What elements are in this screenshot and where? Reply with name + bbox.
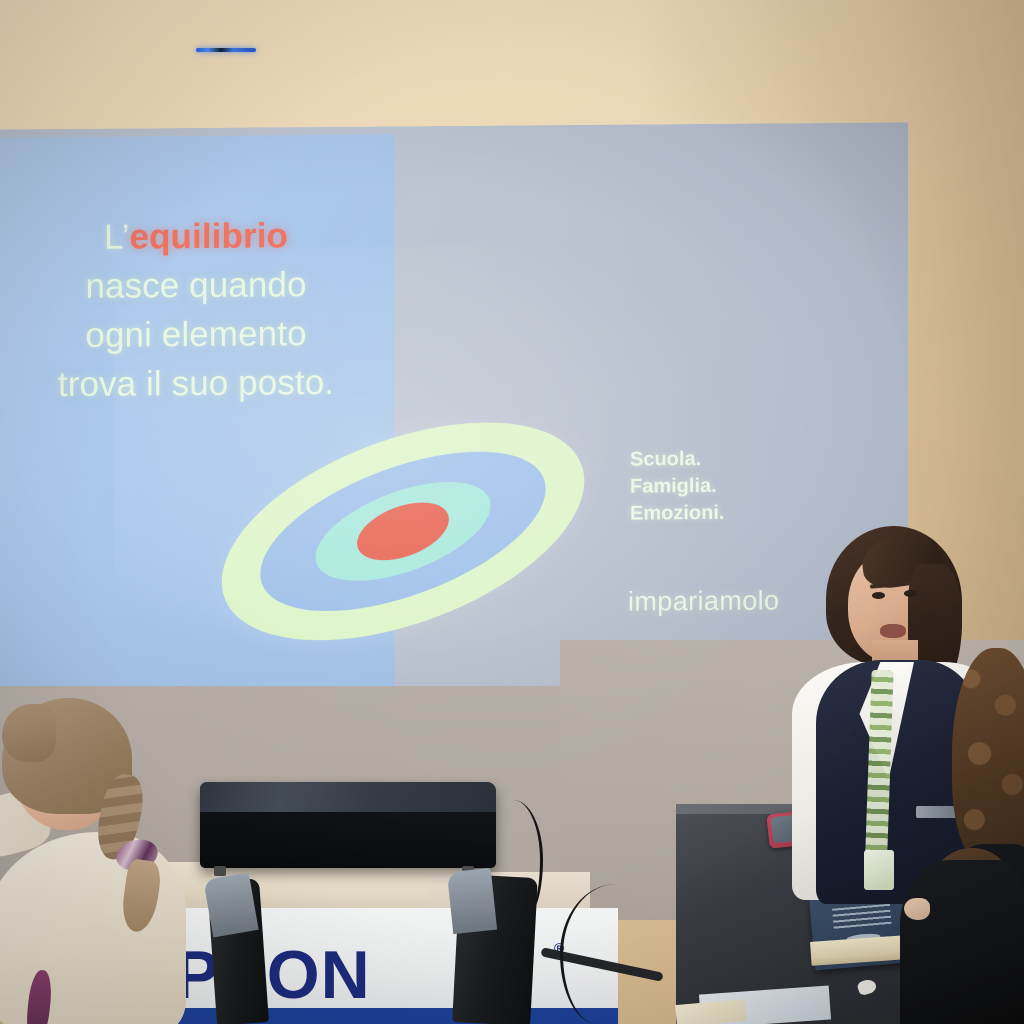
tagline-famiglia: Famiglia.: [630, 473, 724, 501]
tagline-scuola: Scuola.: [630, 446, 724, 474]
attendee-bottom-right: [900, 860, 1024, 1024]
headline-line-1: L’equilibrio: [0, 210, 406, 262]
child-torso: [0, 832, 186, 1024]
attendee-hand: [904, 898, 930, 920]
photo-scene: L’equilibrio nasce quando ogni elemento …: [0, 0, 1024, 1024]
attendee-curly-hair-mass: [952, 648, 1024, 868]
slide-headline: L’equilibrio nasce quando ogni elemento …: [0, 210, 406, 409]
slide-taglines: Scuola. Famiglia. Emozioni.: [630, 446, 724, 528]
headline-line-3: ogni elemento: [0, 308, 406, 360]
child-girl: [0, 700, 216, 1024]
projector-status-leds: [196, 48, 256, 52]
chair-center-edge: [447, 868, 497, 934]
child-hair-front: [2, 704, 56, 762]
presenter-badge: [864, 850, 894, 890]
concentric-ellipse-target-graphic: [208, 393, 598, 670]
presenter-eye-left: [872, 592, 885, 599]
projector-top-surface: [200, 782, 496, 812]
tagline-emozioni: Emozioni.: [630, 500, 724, 528]
headline-line-2: nasce quando: [0, 259, 406, 311]
projector-device: [200, 782, 496, 868]
presenter-mouth: [880, 624, 906, 638]
headline-highlight-equilibrio: equilibrio: [130, 216, 289, 256]
slide-brand-impariamolo: impariamolo: [628, 585, 779, 617]
presenter-eye-right: [904, 590, 917, 597]
headline-prefix: L’: [104, 218, 130, 257]
